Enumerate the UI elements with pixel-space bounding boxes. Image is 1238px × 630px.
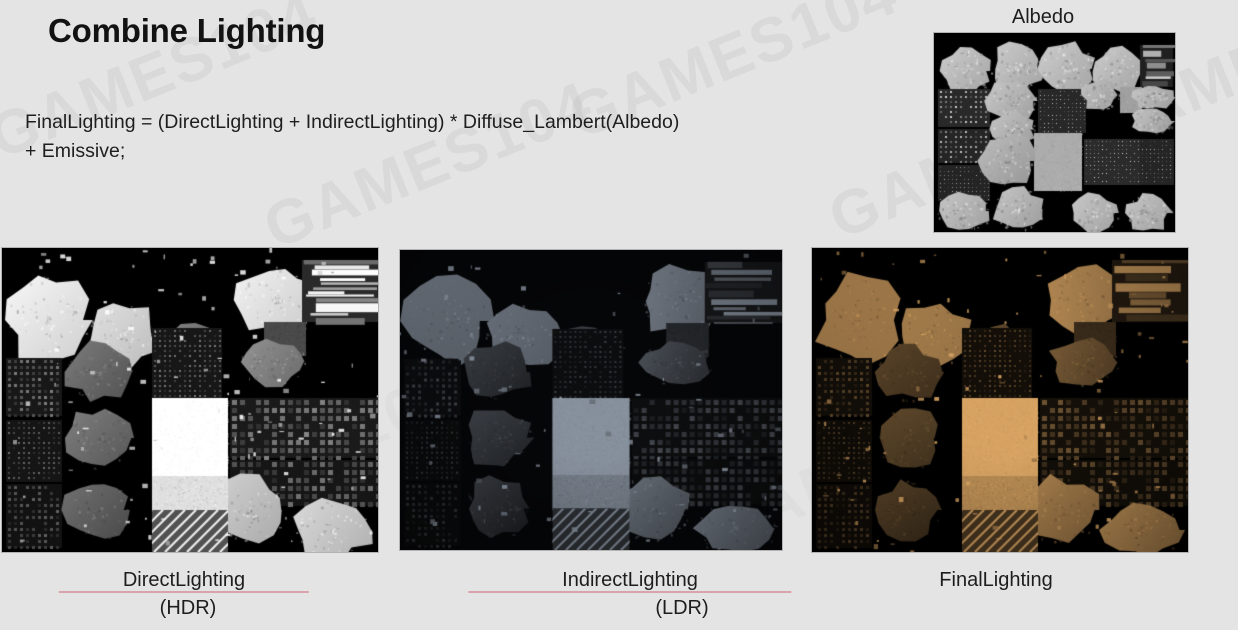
page-title: Combine Lighting <box>48 12 325 50</box>
direct-lighting-canvas <box>2 248 378 552</box>
indirect-lighting-caption-line2: (LDR) <box>522 594 842 622</box>
albedo-image <box>934 33 1175 232</box>
direct-lighting-caption-line1: DirectLighting <box>60 566 308 594</box>
final-lighting-caption-line1: FinalLighting <box>880 566 1112 594</box>
final-lighting-caption: FinalLighting <box>880 566 1112 594</box>
indirect-lighting-caption-line1: IndirectLighting <box>470 566 790 594</box>
indirect-lighting-caption: IndirectLighting (LDR) <box>470 566 790 622</box>
direct-lighting-image <box>2 248 378 552</box>
lighting-formula: FinalLighting = (DirectLighting + Indire… <box>25 108 905 166</box>
albedo-label: Albedo <box>960 6 1126 29</box>
indirect-lighting-canvas <box>400 250 782 550</box>
indirect-lighting-image <box>400 250 782 550</box>
direct-lighting-caption: DirectLighting (HDR) <box>60 566 308 622</box>
final-lighting-canvas <box>812 248 1188 552</box>
albedo-canvas <box>934 33 1175 232</box>
direct-lighting-caption-line2: (HDR) <box>64 594 312 622</box>
final-lighting-image <box>812 248 1188 552</box>
